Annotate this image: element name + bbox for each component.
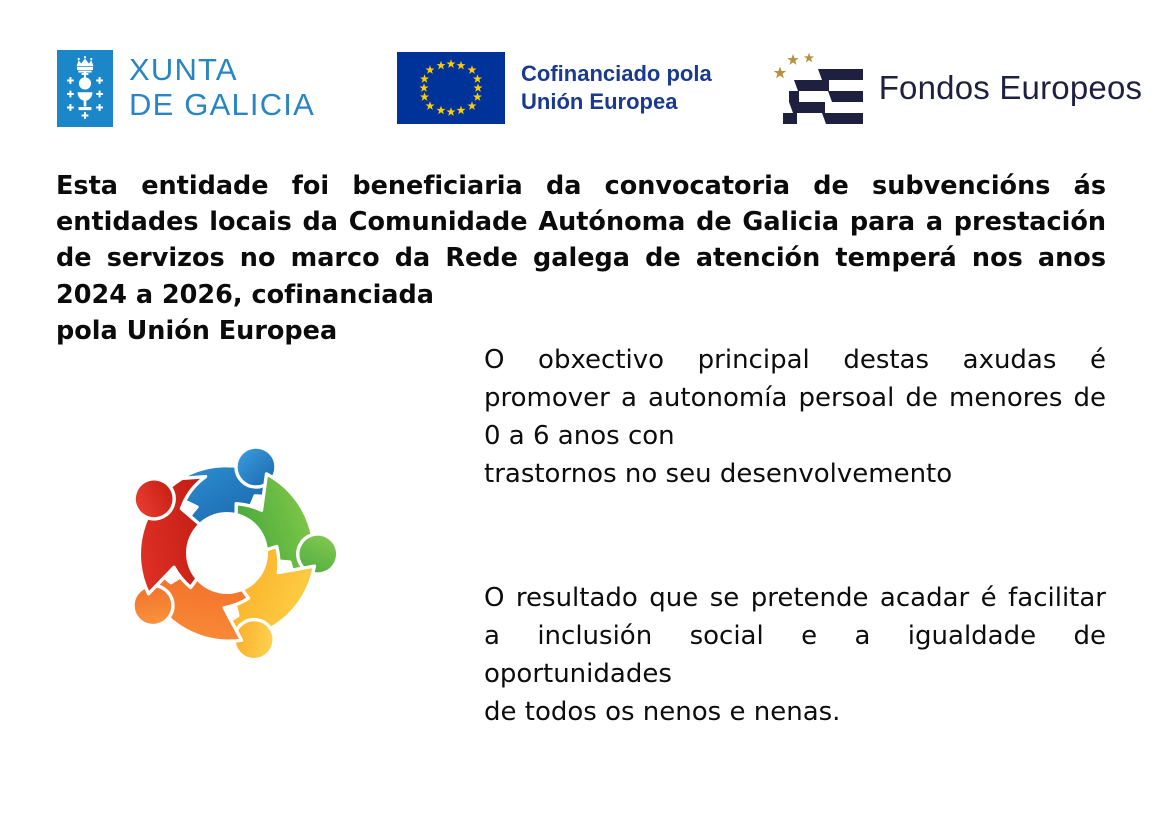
logo-bar: XUNTA DE GALICIA: [0, 38, 1160, 138]
eu-wordmark-line2: Unión Europea: [521, 88, 712, 116]
logo-european-union: Cofinanciado pola Unión Europea: [397, 52, 712, 124]
poster-page: XUNTA DE GALICIA: [0, 0, 1160, 820]
logo-fondos-europeos: Fondos Europeos: [767, 49, 1143, 127]
xunta-wordmark-line2: DE GALICIA: [129, 88, 315, 123]
paragraph-objective: O obxectivo principal destas axudas é pr…: [484, 342, 1106, 494]
xunta-wordmark: XUNTA DE GALICIA: [129, 53, 315, 122]
paragraph-result: O resultado que se pretende acadar é fac…: [484, 580, 1106, 732]
paragraph-objective-last-line: trastornos no seu desenvolvemento: [484, 456, 1106, 494]
eu-wordmark-line1: Cofinanciado pola: [521, 60, 712, 88]
fondos-europeos-stripes-icon: [767, 49, 867, 127]
logo-xunta-de-galicia: XUNTA DE GALICIA: [57, 50, 315, 127]
paragraph-objective-text: O obxectivo principal destas axudas é pr…: [484, 345, 1106, 451]
paragraph-result-last-line: de todos os nenos e nenas.: [484, 694, 1106, 732]
european-union-flag-icon: [397, 52, 505, 124]
fondos-europeos-label: Fondos Europeos: [879, 69, 1143, 107]
paragraph-result-text: O resultado que se pretende acadar é fac…: [484, 583, 1106, 689]
content-area: O obxectivo principal destas axudas é pr…: [0, 330, 1160, 750]
headline-text: Esta entidade foi beneficiaria da convoc…: [56, 171, 1106, 310]
five-people-circle-emblem-icon: [92, 408, 362, 688]
xunta-wordmark-line1: XUNTA: [129, 53, 315, 88]
european-union-wordmark: Cofinanciado pola Unión Europea: [521, 60, 712, 116]
page-title: Esta entidade foi beneficiaria da convoc…: [56, 168, 1106, 349]
xunta-galicia-coat-of-arms-icon: [57, 50, 113, 127]
